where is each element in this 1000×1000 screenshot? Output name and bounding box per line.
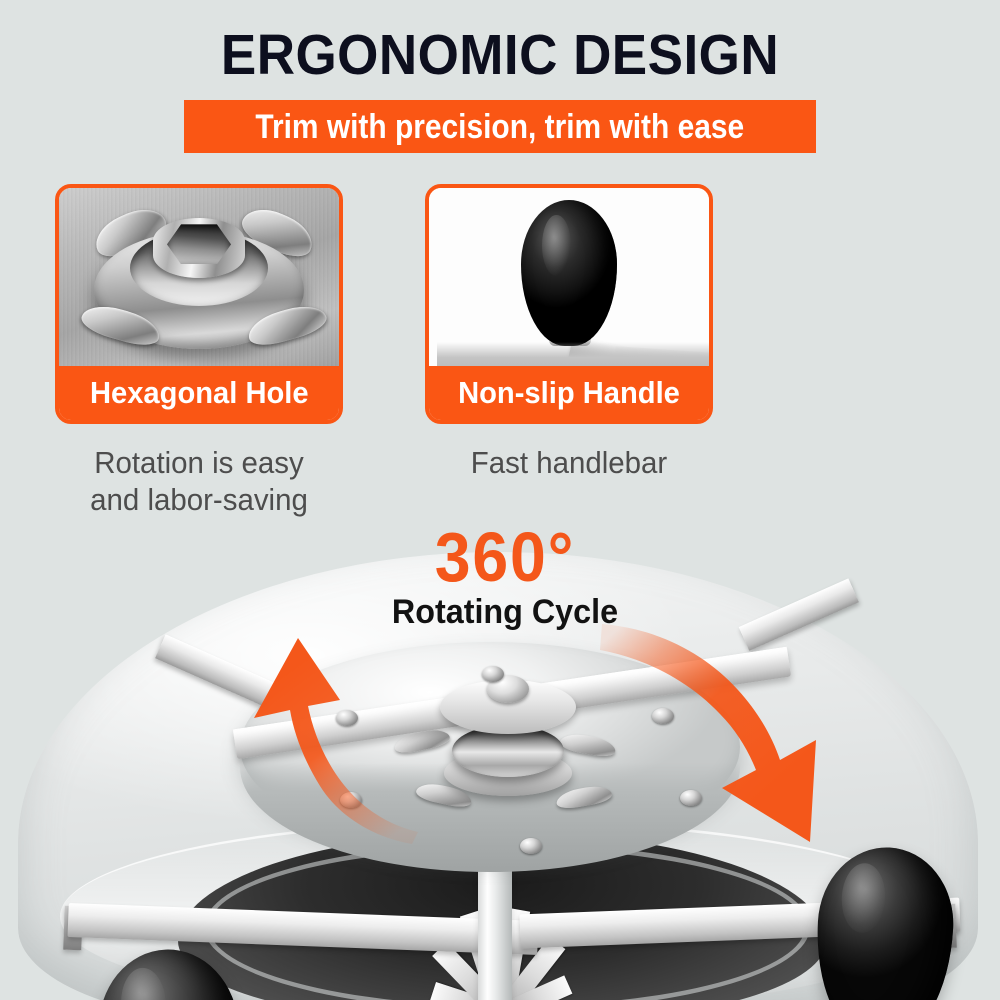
product-infographic-poster: ERGONOMIC DESIGN Trim with precision, tr…	[0, 0, 1000, 1000]
feature-card-non-slip-handle: Non-slip Handle	[425, 184, 713, 424]
subtitle-text: Trim with precision, trim with ease	[256, 109, 745, 145]
arrow-path	[600, 624, 816, 842]
feature-card-label-hexagonal-hole: Hexagonal Hole	[59, 366, 339, 420]
hexagonal-hole-photo	[59, 188, 339, 370]
feature-label-text: Non-slip Handle	[458, 375, 680, 411]
feature-label-text: Hexagonal Hole	[90, 375, 309, 411]
product-photo	[0, 420, 1000, 1000]
rotation-degrees-value: 360	[435, 518, 548, 596]
rubber-knob-icon	[521, 200, 617, 346]
non-slip-handle-photo	[429, 188, 709, 370]
rotation-arrow-clockwise-icon	[598, 618, 848, 848]
feature-card-label-non-slip-handle: Non-slip Handle	[429, 366, 709, 420]
plate-screw	[482, 666, 504, 682]
subtitle-banner: Trim with precision, trim with ease	[184, 100, 816, 153]
rotation-sublabel: Rotating Cycle	[353, 593, 657, 631]
rotation-badge: 360° Rotating Cycle	[345, 523, 665, 631]
arrow-path	[254, 638, 418, 844]
plate-screw	[520, 838, 542, 854]
page-title: ERGONOMIC DESIGN	[35, 24, 965, 86]
feature-card-hexagonal-hole: Hexagonal Hole	[55, 184, 343, 424]
rotation-degrees: 360°	[358, 523, 652, 591]
degree-symbol-icon: °	[548, 518, 576, 596]
rotation-arrow-counterclockwise-icon	[236, 630, 436, 850]
